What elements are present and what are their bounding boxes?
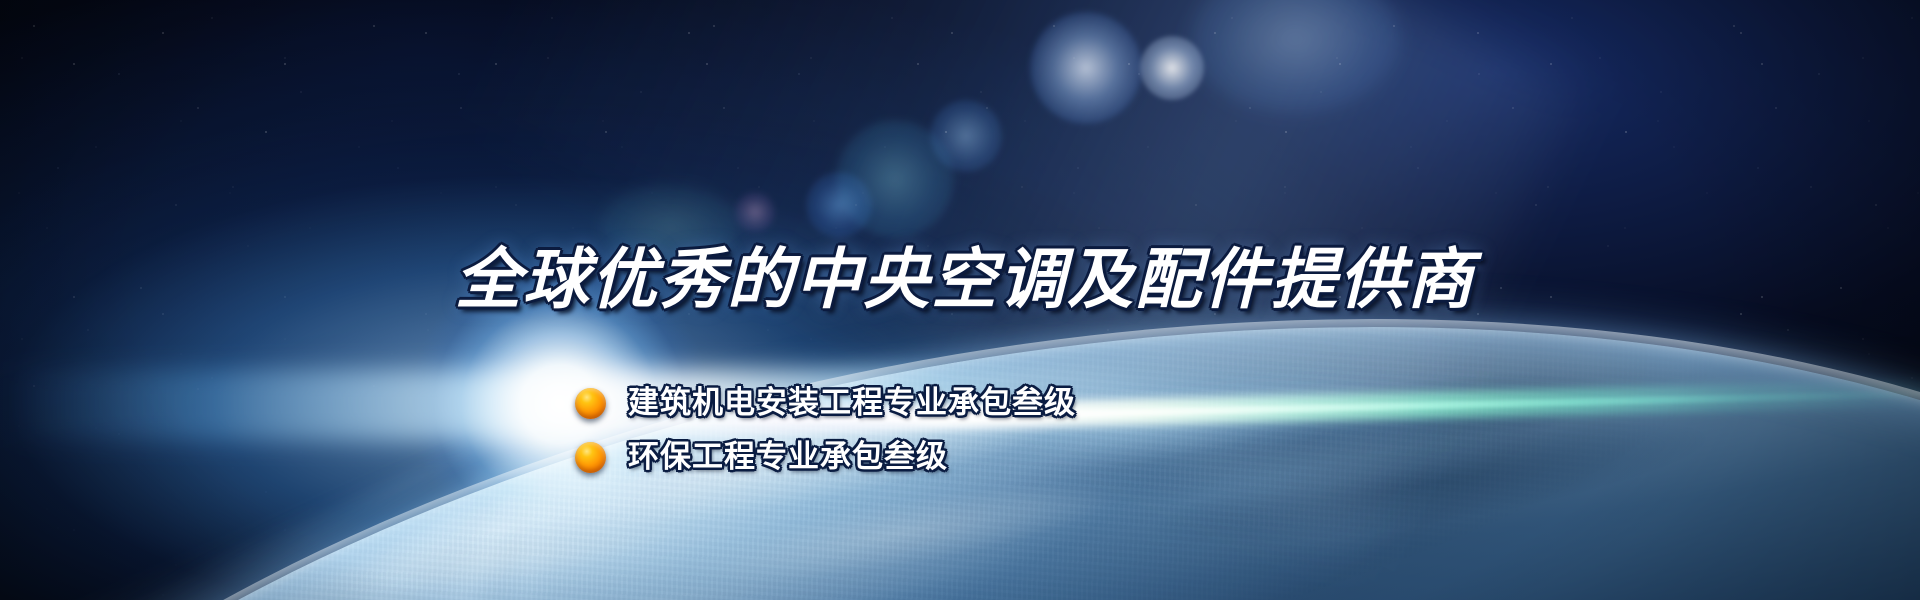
certification-label: 环保工程专业承包叁级 — [628, 440, 948, 474]
certification-list: 建筑机电安装工程专业承包叁级 环保工程专业承包叁级 — [575, 386, 1076, 474]
list-item: 环保工程专业承包叁级 — [575, 440, 1076, 474]
certification-label: 建筑机电安装工程专业承包叁级 — [628, 386, 1076, 420]
orange-dot-icon — [575, 388, 606, 419]
orange-dot-icon — [575, 442, 606, 473]
hero-banner: 全球优秀的中央空调及配件提供商 建筑机电安装工程专业承包叁级 环保工程专业承包叁… — [0, 0, 1920, 600]
banner-content: 全球优秀的中央空调及配件提供商 建筑机电安装工程专业承包叁级 环保工程专业承包叁… — [0, 0, 1920, 600]
banner-headline: 全球优秀的中央空调及配件提供商 — [455, 243, 1475, 315]
list-item: 建筑机电安装工程专业承包叁级 — [575, 386, 1076, 420]
